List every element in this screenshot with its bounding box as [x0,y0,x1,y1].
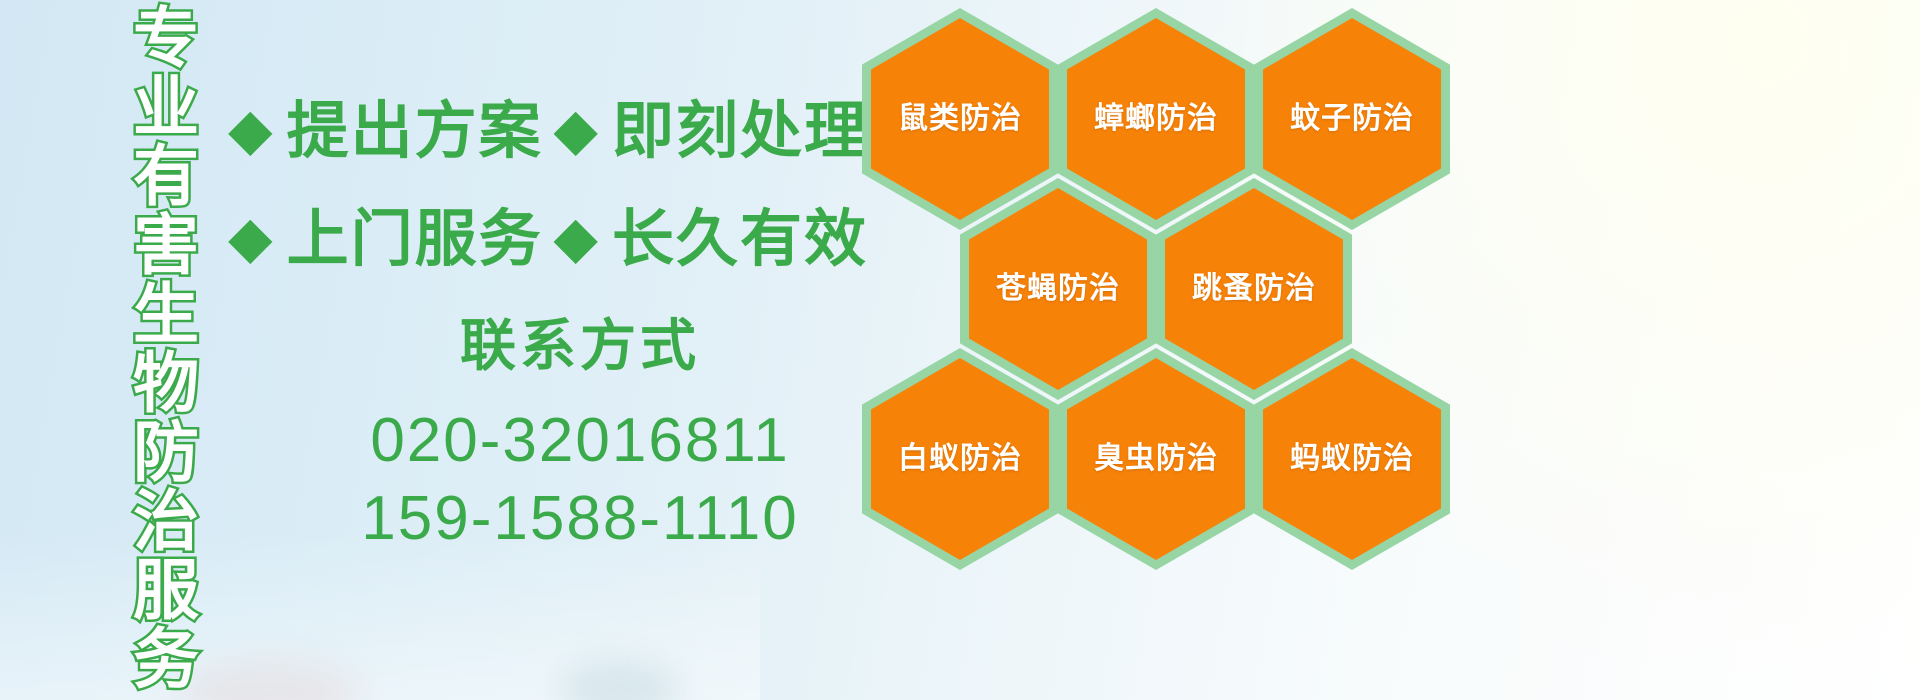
vertical-headline-char: 生 [133,280,199,349]
feature-label: 提出方案 [287,101,543,163]
diamond-bullet-icon: ◆ [228,101,273,159]
feature-label: 长久有效 [612,209,868,271]
feature-item-onsite: ◆ 上门服务 [228,209,543,271]
feature-item-proposal: ◆ 提出方案 [228,101,543,163]
contact-block: 联系方式 020-32016811 159-1588-1110 [300,316,860,558]
vertical-headline-char: 业 [133,73,199,142]
hex-label: 蚂蚁防治 [1290,444,1414,474]
feature-item-longlasting: ◆ 长久有效 [553,209,868,271]
hex-label: 白蚁防治 [898,444,1022,474]
promo-banner: 专 业 有 害 生 物 防 治 服 务 ◆ 提出方案 ◆ 即刻处理 ◆ 上门服务 [0,0,1920,700]
hex-label: 蚊子防治 [1290,104,1414,134]
vertical-headline-char: 务 [133,625,199,694]
hex-label: 苍蝇防治 [996,274,1120,304]
service-honeycomb: 鼠类防治 蟑螂防治 蚊子防治 苍蝇防治 跳蚤防治 白蚁防治 臭虫防治 [862,0,1462,700]
hex-label: 蟑螂防治 [1094,104,1218,134]
phone-mobile[interactable]: 159-1588-1110 [300,480,860,558]
diamond-bullet-icon: ◆ [228,209,273,267]
feature-item-immediate: ◆ 即刻处理 [553,101,868,163]
vertical-headline-char: 防 [133,418,199,487]
hex-label: 鼠类防治 [898,104,1022,134]
vertical-headline: 专 业 有 害 生 物 防 治 服 务 [112,4,220,564]
phone-landline[interactable]: 020-32016811 [300,402,860,480]
feature-row: ◆ 提出方案 ◆ 即刻处理 [228,78,868,186]
hex-label: 臭虫防治 [1094,444,1218,474]
background-blob-center [560,660,680,700]
feature-list: ◆ 提出方案 ◆ 即刻处理 ◆ 上门服务 ◆ 长久有效 [228,78,868,294]
vertical-headline-char: 害 [133,211,199,280]
feature-label: 即刻处理 [612,101,868,163]
vertical-headline-char: 物 [133,349,199,418]
contact-title: 联系方式 [300,316,860,376]
feature-label: 上门服务 [287,209,543,271]
diamond-bullet-icon: ◆ [553,101,598,159]
vertical-headline-char: 专 [133,4,199,73]
diamond-bullet-icon: ◆ [553,209,598,267]
hex-label: 跳蚤防治 [1192,274,1316,304]
vertical-headline-char: 有 [133,142,199,211]
vertical-headline-char: 服 [133,556,199,625]
vertical-headline-char: 治 [133,487,199,556]
background-blob-left [180,660,360,700]
feature-row: ◆ 上门服务 ◆ 长久有效 [228,186,868,294]
